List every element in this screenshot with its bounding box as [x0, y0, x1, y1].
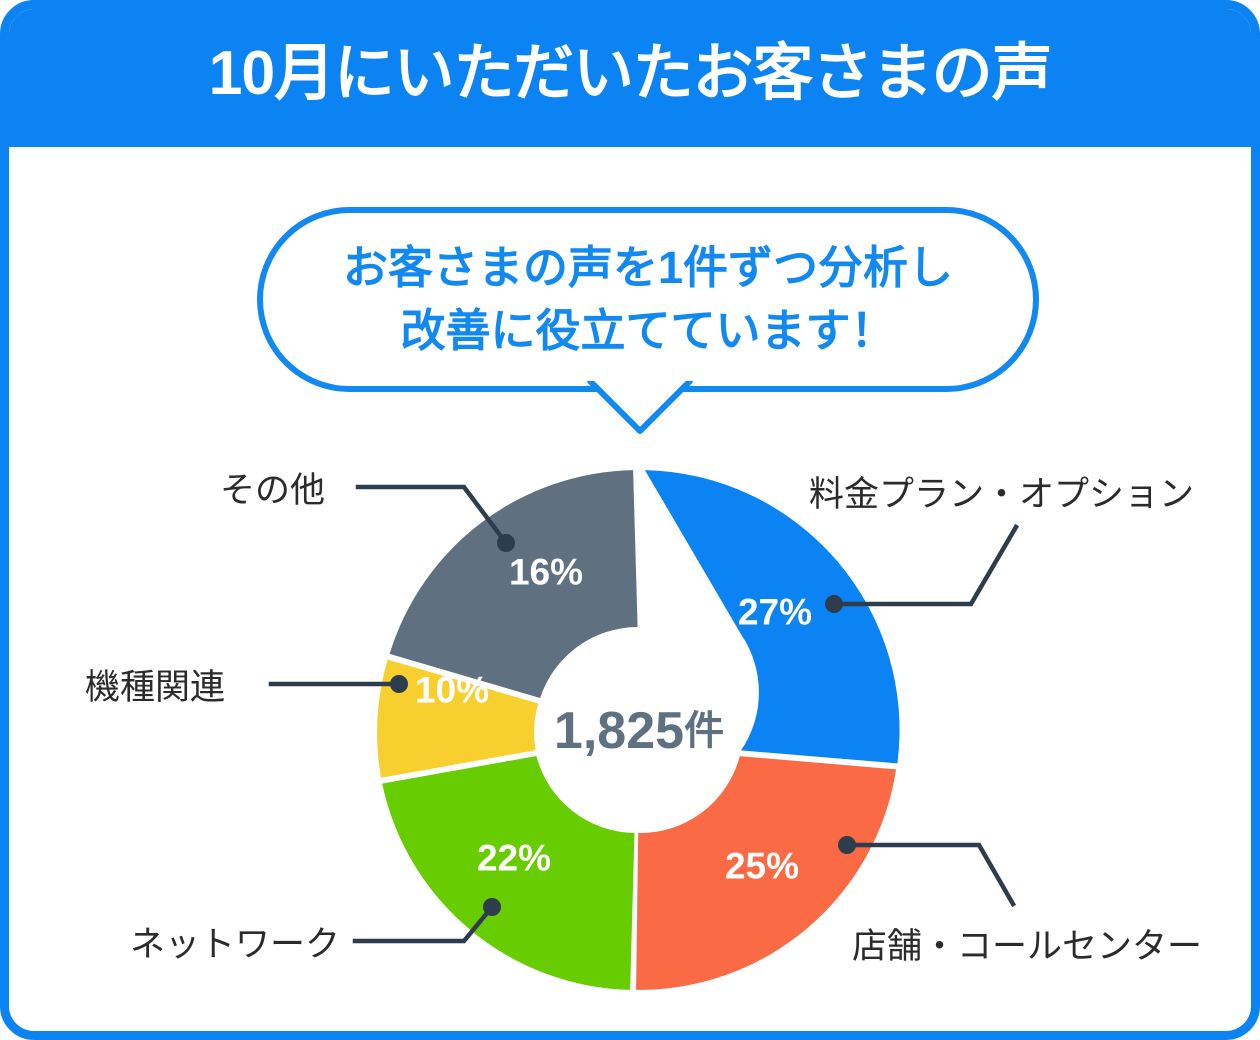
- donut-chart: 27% 25% 22% 10% 16% 1,825件 料金プラン・オプション 店…: [9, 9, 1260, 1040]
- slice-percent-sonota: 16%: [509, 552, 583, 593]
- callout-network: ネットワーク: [130, 898, 501, 964]
- center-total-value: 1,825: [554, 702, 684, 760]
- slice-percent-ryokin-plan-option: 27%: [738, 592, 812, 633]
- slice-percent-network: 22%: [477, 838, 551, 879]
- slice-percent-kishu-kanren: 10%: [415, 670, 489, 711]
- center-total-unit: 件: [684, 709, 724, 753]
- info-card: 10月にいただいたお客さまの声 お客さまの声を1件ずつ分析し 改善に役立てていま…: [0, 0, 1260, 1040]
- category-label-sonota: その他: [220, 471, 325, 510]
- callout-kishu-kanren: 機種関連: [85, 668, 408, 707]
- callout-tenpo-callcenter: 店舗・コールセンター: [838, 836, 1202, 966]
- category-label-kishu-kanren: 機種関連: [85, 668, 225, 707]
- category-label-ryokin-plan-option: 料金プラン・オプション: [809, 475, 1194, 514]
- slice-percent-tenpo-callcenter: 25%: [725, 846, 799, 887]
- category-label-network: ネットワーク: [130, 925, 340, 964]
- callout-ryokin-plan-option: 料金プラン・オプション: [809, 475, 1194, 613]
- center-total: 1,825件: [554, 702, 724, 760]
- category-label-tenpo-callcenter: 店舗・コールセンター: [852, 927, 1202, 966]
